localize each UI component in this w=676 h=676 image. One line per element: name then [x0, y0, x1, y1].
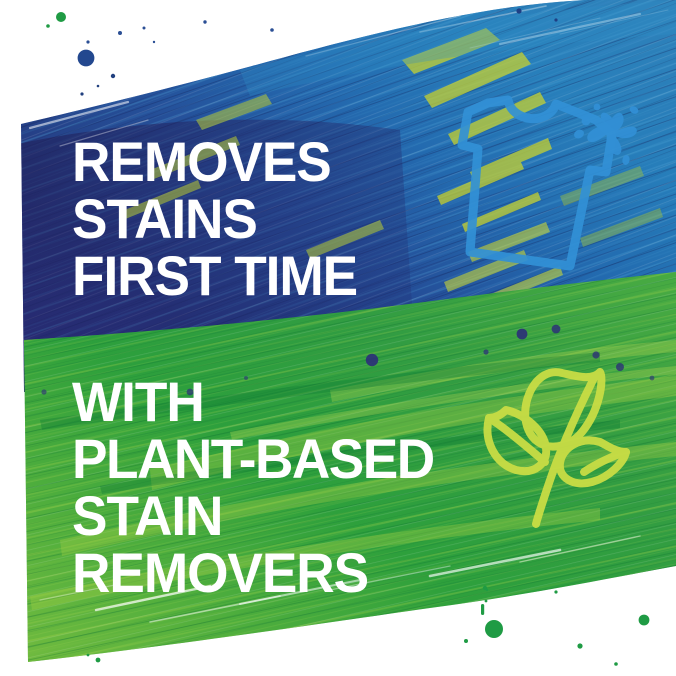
poster-canvas: REMOVES STAINS FIRST TIME WITH PLANT-BAS… [0, 0, 676, 676]
painted-background-art [0, 0, 676, 676]
